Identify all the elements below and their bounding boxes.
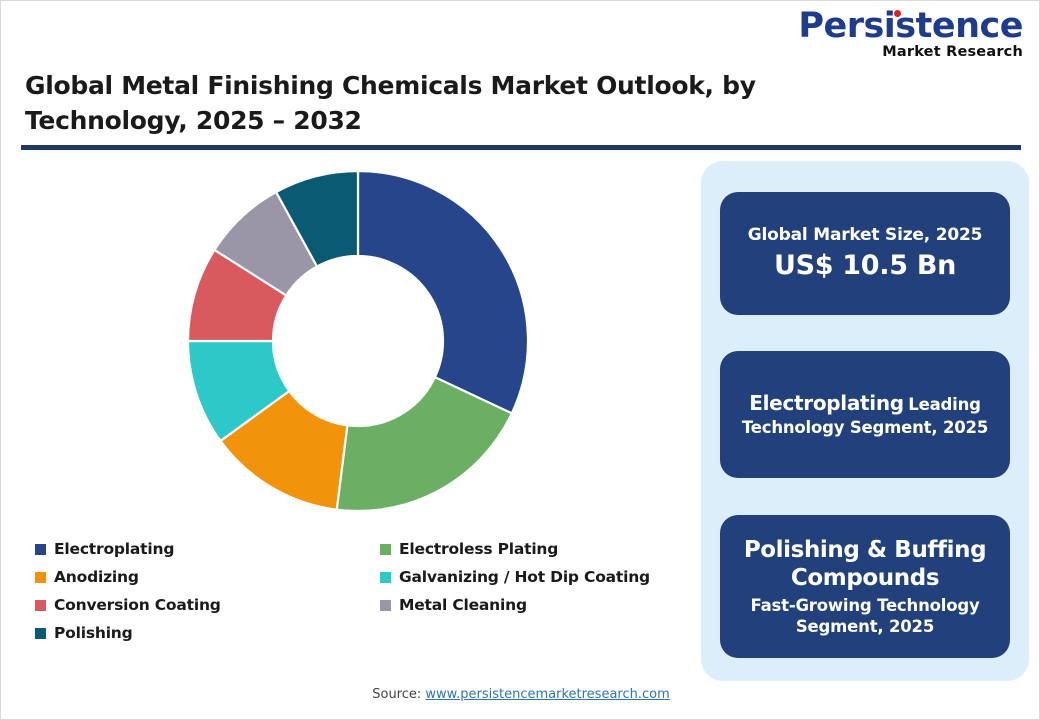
kpi-card-2-text: Electroplating Leading Technology Segmen… — [720, 390, 1010, 440]
header-divider — [21, 145, 1021, 150]
legend-column-left: ElectroplatingAnodizingConversion Coatin… — [35, 535, 365, 647]
kpi-card-3-segment-name: Polishing & Buffing Compounds — [720, 536, 1010, 594]
legend-item-label: Metal Cleaning — [399, 596, 527, 614]
legend-item-label: Anodizing — [54, 568, 139, 586]
legend-item-label: Electroplating — [54, 540, 174, 558]
source-link[interactable]: www.persistencemarketresearch.com — [425, 687, 669, 702]
legend-item-label: Polishing — [54, 624, 133, 642]
legend-swatch-icon — [380, 600, 391, 611]
kpi-card-1-label: Global Market Size, 2025 — [748, 225, 982, 246]
kpi-card-2-segment-name: Electroplating — [749, 391, 904, 415]
kpi-card-1-value: US$ 10.5 Bn — [774, 250, 956, 282]
legend-swatch-icon — [380, 572, 391, 583]
kpi-card-3-description: Fast-Growing Technology Segment, 2025 — [720, 595, 1010, 637]
kpi-card-global-market-size: Global Market Size, 2025 US$ 10.5 Bn — [720, 192, 1010, 315]
kpi-side-panel: Global Market Size, 2025 US$ 10.5 Bn Ele… — [701, 161, 1029, 681]
donut-slice[interactable] — [358, 171, 528, 413]
legend-swatch-icon — [35, 628, 46, 639]
source-label: Source: — [372, 687, 421, 702]
logo-wordmark: Persistence — [798, 9, 1023, 44]
legend-column-right: Electroless PlatingGalvanizing / Hot Dip… — [380, 535, 680, 619]
kpi-card-leading-technology-segment: Electroplating Leading Technology Segmen… — [720, 351, 1010, 478]
donut-slices — [188, 171, 528, 511]
legend-item-label: Conversion Coating — [54, 596, 221, 614]
company-logo: Persistence Market Research — [773, 9, 1023, 60]
legend-swatch-icon — [380, 544, 391, 555]
legend-item[interactable]: Conversion Coating — [35, 591, 365, 619]
legend-item-label: Galvanizing / Hot Dip Coating — [399, 568, 650, 586]
source-footer: Source: www.persistencemarketresearch.co… — [1, 687, 1040, 702]
infographic-page: Persistence Market Research Global Metal… — [0, 0, 1040, 720]
donut-chart — [188, 171, 528, 511]
logo-wordmark-text: Persistence — [798, 6, 1023, 46]
legend-swatch-icon — [35, 544, 46, 555]
logo-tagline: Market Research — [773, 45, 1023, 60]
legend-item[interactable]: Galvanizing / Hot Dip Coating — [380, 563, 680, 591]
legend-swatch-icon — [35, 572, 46, 583]
legend-item[interactable]: Anodizing — [35, 563, 365, 591]
page-title: Global Metal Finishing Chemicals Market … — [25, 69, 925, 138]
legend-swatch-icon — [35, 600, 46, 611]
legend-item[interactable]: Polishing — [35, 619, 365, 647]
kpi-card-fast-growing-technology-segment: Polishing & Buffing Compounds Fast-Growi… — [720, 515, 1010, 658]
legend-item-label: Electroless Plating — [399, 540, 558, 558]
legend-item[interactable]: Electroless Plating — [380, 535, 680, 563]
legend-item[interactable]: Metal Cleaning — [380, 591, 680, 619]
legend-item[interactable]: Electroplating — [35, 535, 365, 563]
chart-area: ElectroplatingAnodizingConversion Coatin… — [1, 151, 691, 671]
